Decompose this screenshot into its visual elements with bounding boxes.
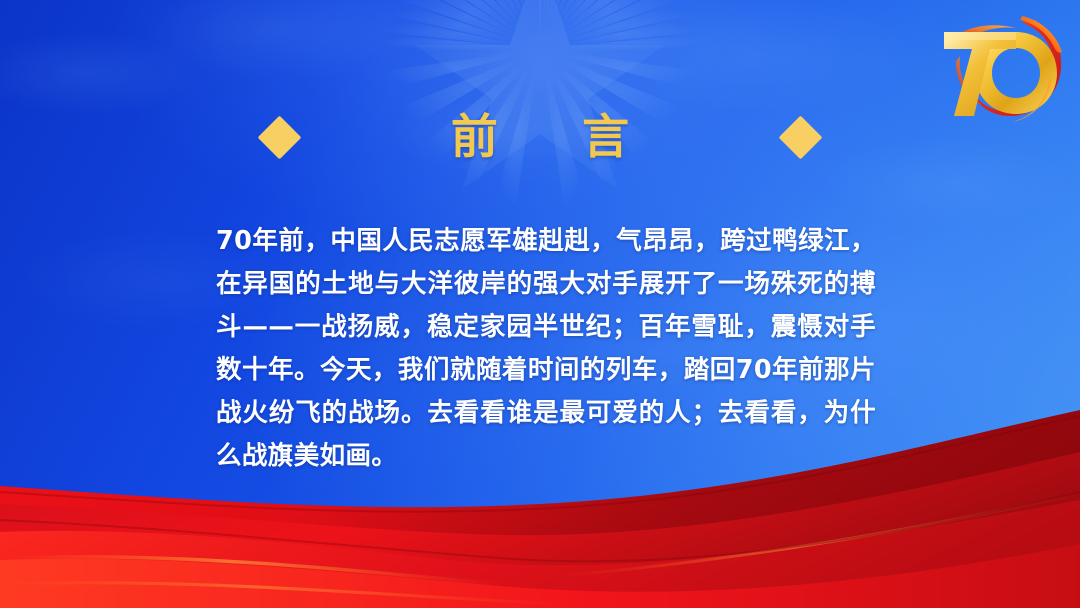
diamond-ornament-left-icon — [257, 116, 301, 160]
heading-row: 前 言 — [0, 114, 1080, 161]
five-pointed-star-watermark — [280, 0, 800, 207]
sunburst-rays-icon — [280, 0, 800, 207]
page-title: 前 言 — [417, 114, 663, 161]
70th-anniversary-emblem-icon — [930, 4, 1070, 128]
slide-canvas: 前 言 70年前，中国人民志愿军雄赳赳，气昂昂，跨过鸭绿江，在异国的土地与大洋彼… — [0, 0, 1080, 608]
diamond-ornament-right-icon — [779, 116, 823, 160]
red-silk-ribbon — [0, 408, 1080, 608]
